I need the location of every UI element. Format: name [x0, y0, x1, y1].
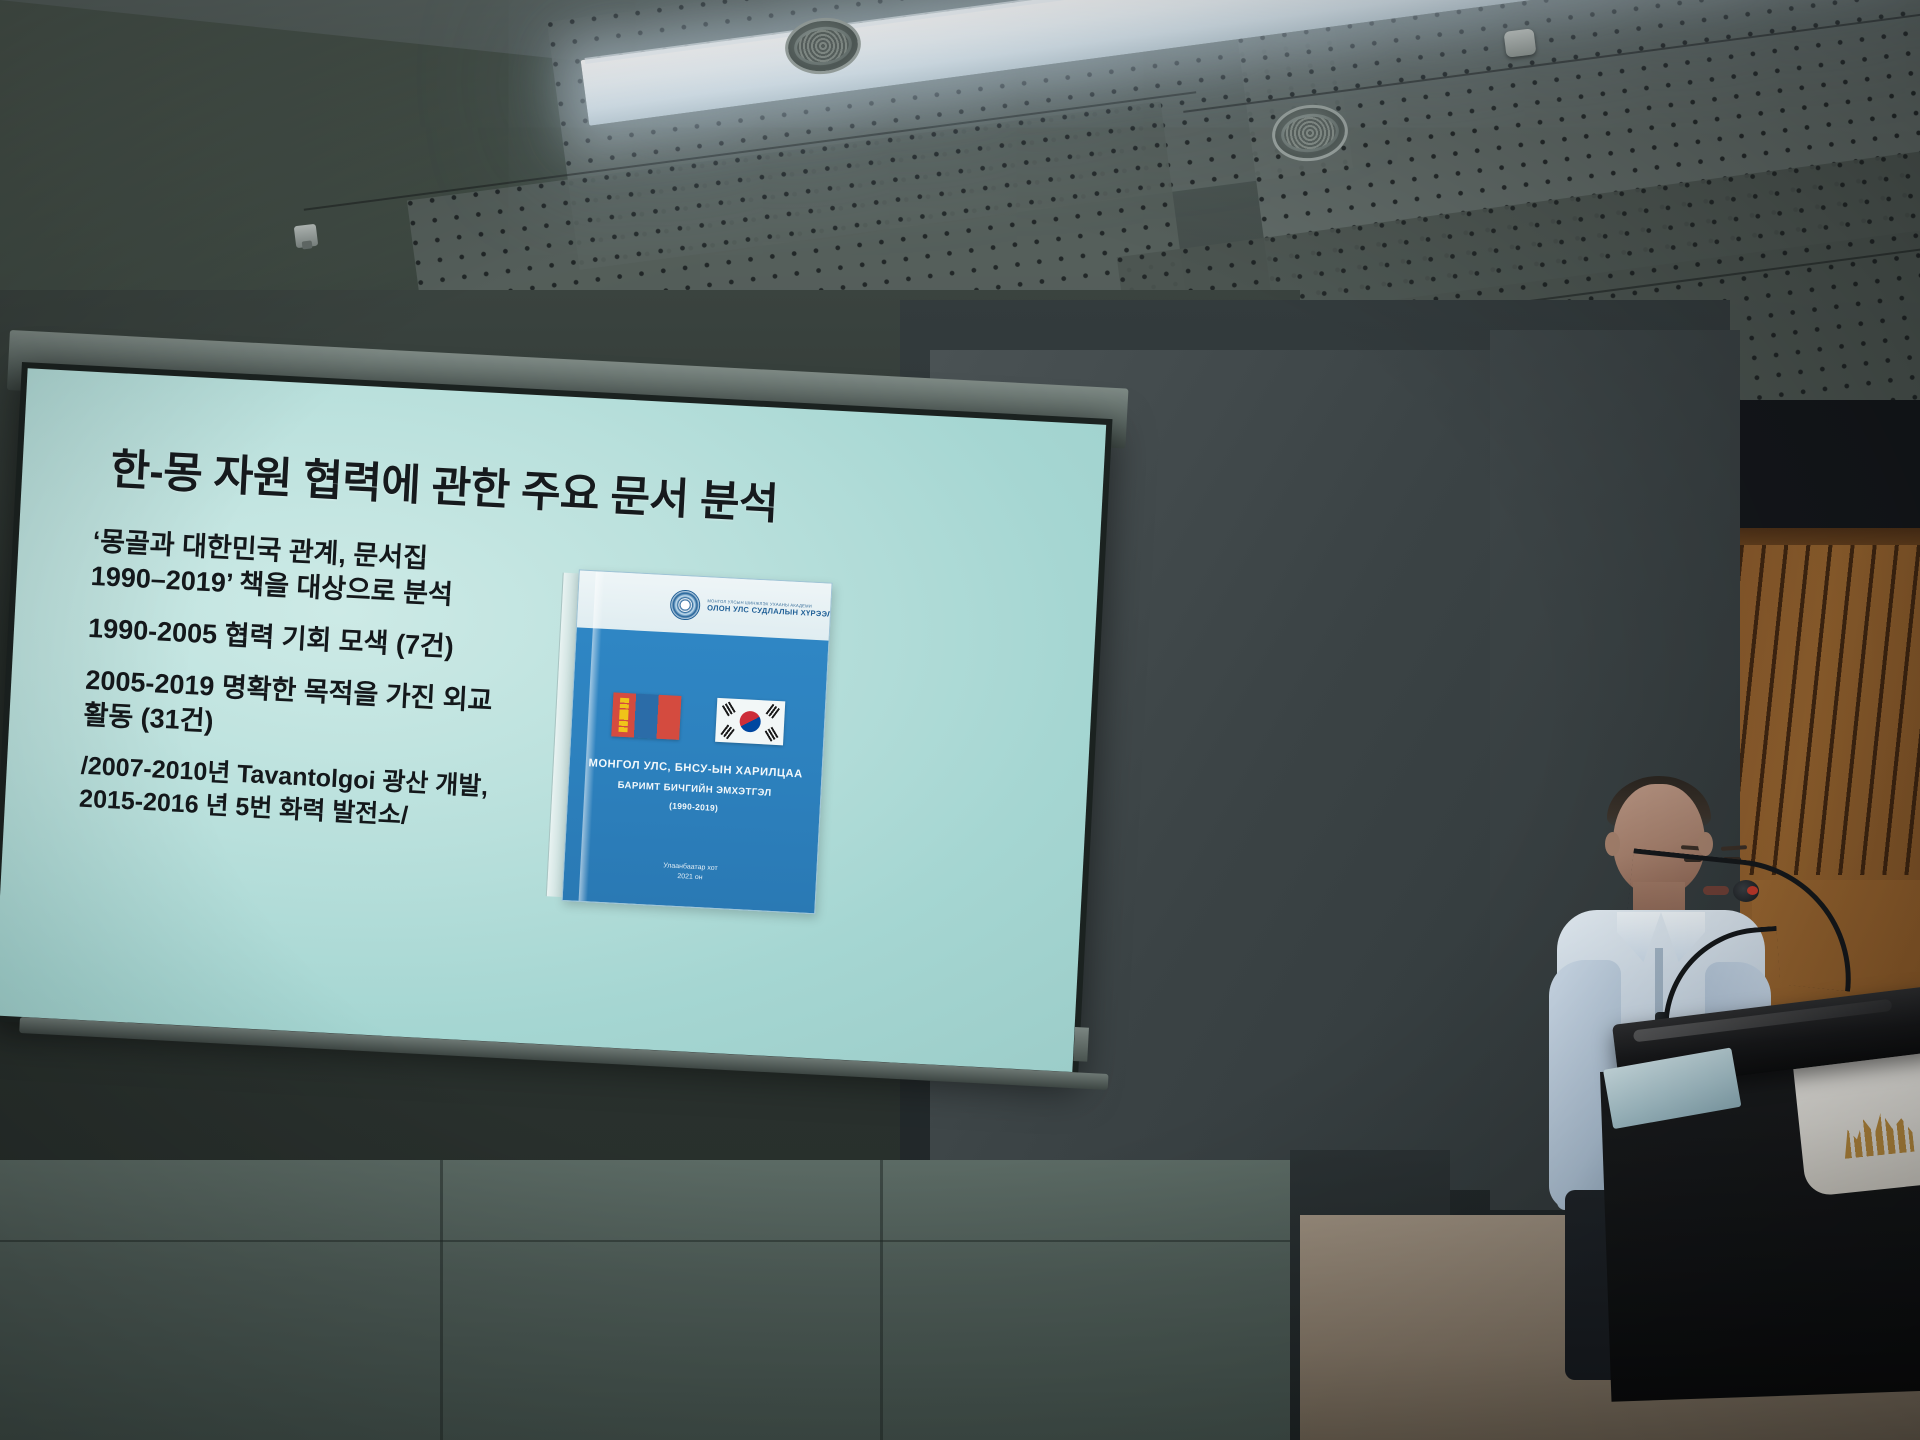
microphone-head-icon	[1733, 880, 1759, 902]
slide-bullet: 2005-2019 명확한 목적을 가진 외교 활동 (31건)	[83, 663, 556, 758]
conference-room-scene: 한-몽 자원 협력에 관한 주요 문서 분석 ‘몽골과 대한민국 관계, 문서집…	[0, 0, 1920, 1440]
slide-bullet-line: 활동 (31건)	[83, 700, 214, 737]
wall-seam	[0, 1240, 1330, 1242]
book-front-cover: МОНГОЛ УЛСЫН ШИНЖЛЭХ УХААНЫ АКАДЕМИ ОЛОН…	[562, 569, 833, 914]
book-organization: МОНГОЛ УЛСЫН ШИНЖЛЭХ УХААНЫ АКАДЕМИ ОЛОН…	[707, 600, 833, 620]
slide-bullet-line: 1990-2005 협력 기회 모색 (7건)	[87, 613, 454, 662]
book-title-block: МОНГОЛ УЛС, БНСУ-ЫН ХАРИЛЦАА БАРИМТ БИЧГ…	[568, 756, 822, 818]
lower-wall	[0, 1160, 1330, 1440]
slide-bullet: /2007-2010년 Tavantolgoi 광산 개발, 2015-2016…	[78, 750, 551, 840]
book-cover-header: МОНГОЛ УЛСЫН ШИНЖЛЭХ УХААНЫ АКАДЕМИ ОЛОН…	[577, 570, 832, 640]
projection-screen: 한-몽 자원 협력에 관한 주요 문서 분석 ‘몽골과 대한민국 관계, 문서집…	[0, 362, 1113, 1078]
presenter-ear	[1698, 832, 1713, 856]
slide-bullet-list: ‘몽골과 대한민국 관계, 문서집 1990–2019’ 책을 대상으로 분석 …	[77, 524, 562, 857]
presenter-ear	[1605, 832, 1620, 856]
podium-emblem-icon	[1840, 1104, 1915, 1159]
book-footer-block: Улаанбаатар хот 2021 он	[564, 856, 817, 889]
screen-pull-handle[interactable]	[1073, 1027, 1089, 1062]
soyombo-symbol-icon	[618, 698, 629, 732]
wall-seam	[440, 1160, 443, 1440]
slide-bullet: 1990-2005 협력 기회 모색 (7건)	[87, 611, 558, 671]
academy-logo-icon	[669, 589, 701, 621]
slide-bullet: ‘몽골과 대한민국 관계, 문서집 1990–2019’ 책을 대상으로 분석	[90, 524, 563, 619]
presentation-slide: 한-몽 자원 협력에 관한 주요 문서 분석 ‘몽골과 대한민국 관계, 문서집…	[0, 368, 1106, 1072]
sprinkler-icon	[294, 224, 319, 249]
south-korea-flag-icon	[715, 698, 785, 745]
book-title-years: (1990-2019)	[586, 796, 802, 817]
book-title-line-1: МОНГОЛ УЛС, БНСУ-ЫН ХАРИЛЦАА	[587, 757, 803, 780]
trigram-icon	[722, 702, 736, 717]
trigram-icon	[765, 727, 779, 742]
presenter-eyebrow	[1721, 845, 1747, 851]
smoke-detector-icon	[1504, 28, 1537, 57]
book-flags-row	[571, 690, 825, 747]
trigram-icon	[766, 704, 780, 719]
mongolia-flag-icon	[611, 692, 681, 739]
taeguk-icon	[736, 707, 764, 735]
wall-seam	[880, 1160, 883, 1440]
trigram-icon	[720, 724, 734, 739]
book-cover-image: МОНГОЛ УЛСЫН ШИНЖЛЭХ УХААНЫ АКАДЕМИ ОЛОН…	[546, 569, 833, 915]
slide-title: 한-몽 자원 협력에 관한 주요 문서 분석	[109, 435, 991, 543]
